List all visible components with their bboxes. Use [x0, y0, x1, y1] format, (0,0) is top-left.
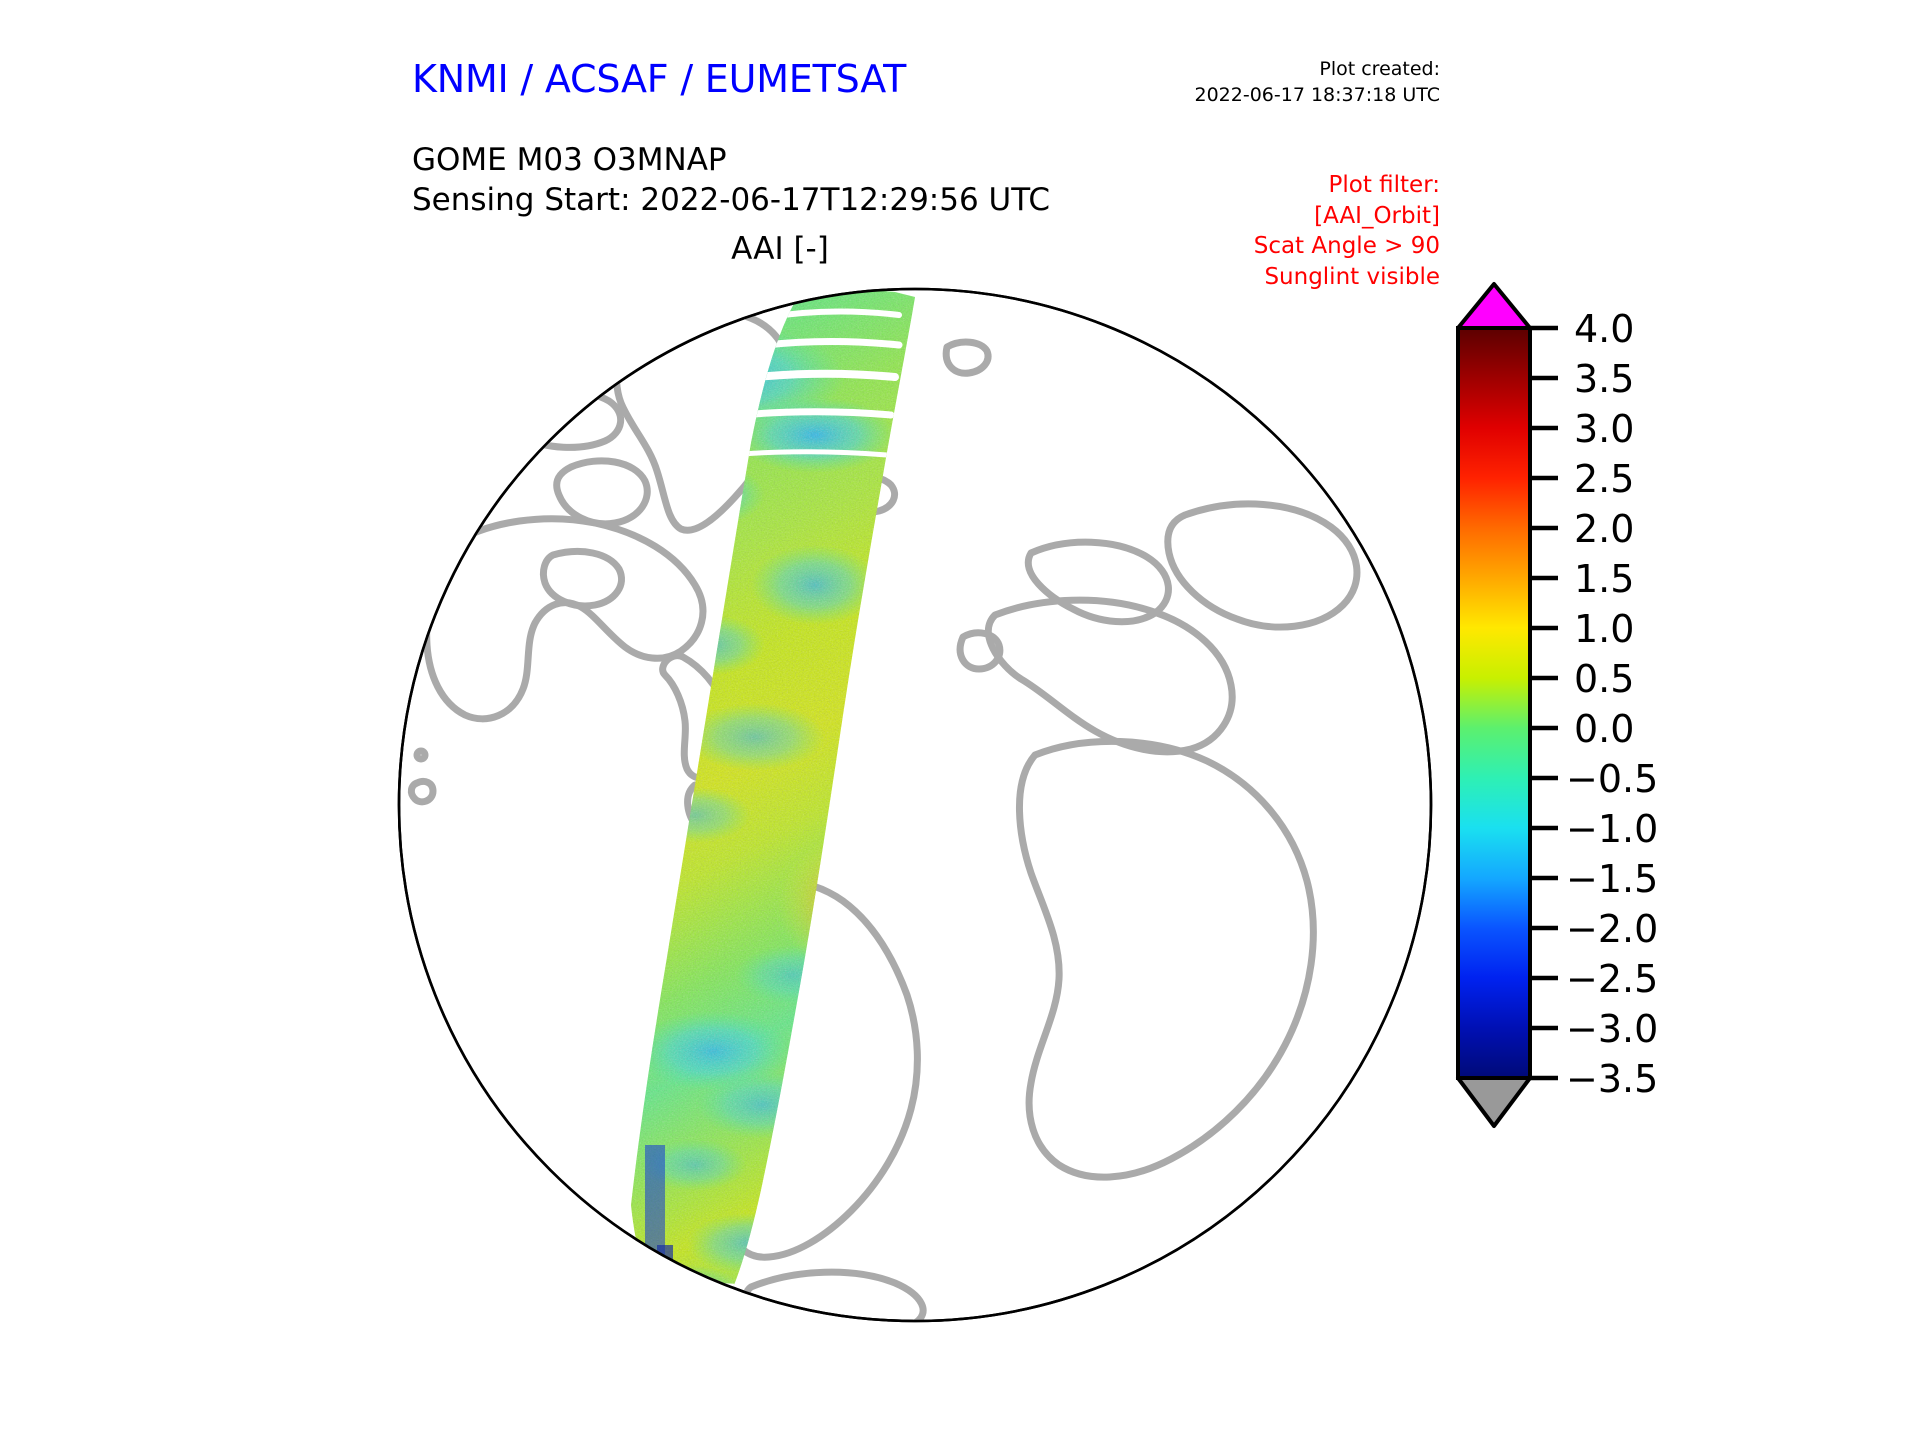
colorbar-label-0-0: 0.0 — [1574, 707, 1634, 751]
dataset-name: GOME M03 O3MNAP — [412, 140, 1050, 180]
organisation-title: KNMI / ACSAF / EUMETSAT — [412, 57, 906, 101]
filter-label: Plot filter: — [1040, 170, 1440, 201]
colorbar-label-3-0: 3.0 — [1574, 407, 1634, 451]
colorbar-label-1-0: 1.0 — [1574, 607, 1634, 651]
variable-title: AAI [-] — [430, 231, 1130, 267]
plot-created-block: Plot created: 2022-06-17 18:37:18 UTC — [1060, 56, 1440, 108]
colorbar: 4.0 3.5 3.0 2.5 2.0 1.5 1.0 0.5 0.0 −0.5… — [1440, 280, 1780, 1320]
colorbar-label-3-5: 3.5 — [1574, 357, 1634, 401]
colorbar-label-4-0: 4.0 — [1574, 307, 1634, 351]
colorbar-label-1-5: 1.5 — [1574, 557, 1634, 601]
dataset-info-block: GOME M03 O3MNAP Sensing Start: 2022-06-1… — [412, 140, 1050, 221]
colorbar-ticks — [1530, 328, 1558, 1078]
plot-canvas: KNMI / ACSAF / EUMETSAT Plot created: 20… — [0, 0, 1920, 1440]
filter-product: [AAI_Orbit] — [1040, 201, 1440, 232]
colorbar-label-neg-3-0: −3.0 — [1566, 1007, 1658, 1051]
globe-map — [395, 285, 1435, 1325]
colorbar-label-0-5: 0.5 — [1574, 657, 1634, 701]
colorbar-label-neg-1-5: −1.5 — [1566, 857, 1658, 901]
colorbar-under-range-triangle — [1458, 1078, 1530, 1126]
colorbar-label-neg-2-0: −2.0 — [1566, 907, 1658, 951]
colorbar-label-neg-1-0: −1.0 — [1566, 807, 1658, 851]
colorbar-label-2-5: 2.5 — [1574, 457, 1634, 501]
colorbar-gradient — [1458, 328, 1530, 1078]
sensing-start: Sensing Start: 2022-06-17T12:29:56 UTC — [412, 180, 1050, 220]
colorbar-label-neg-3-5: −3.5 — [1566, 1057, 1658, 1101]
plot-created-label: Plot created: — [1060, 56, 1440, 82]
colorbar-label-neg-2-5: −2.5 — [1566, 957, 1658, 1001]
colorbar-over-range-triangle — [1458, 284, 1530, 328]
filter-scat-angle: Scat Angle > 90 — [1040, 231, 1440, 262]
plot-filter-block: Plot filter: [AAI_Orbit] Scat Angle > 90… — [1040, 170, 1440, 292]
colorbar-tick-labels: 4.0 3.5 3.0 2.5 2.0 1.5 1.0 0.5 0.0 −0.5… — [1566, 307, 1658, 1101]
colorbar-label-2-0: 2.0 — [1574, 507, 1634, 551]
plot-created-timestamp: 2022-06-17 18:37:18 UTC — [1060, 82, 1440, 108]
colorbar-label-neg-0-5: −0.5 — [1566, 757, 1658, 801]
